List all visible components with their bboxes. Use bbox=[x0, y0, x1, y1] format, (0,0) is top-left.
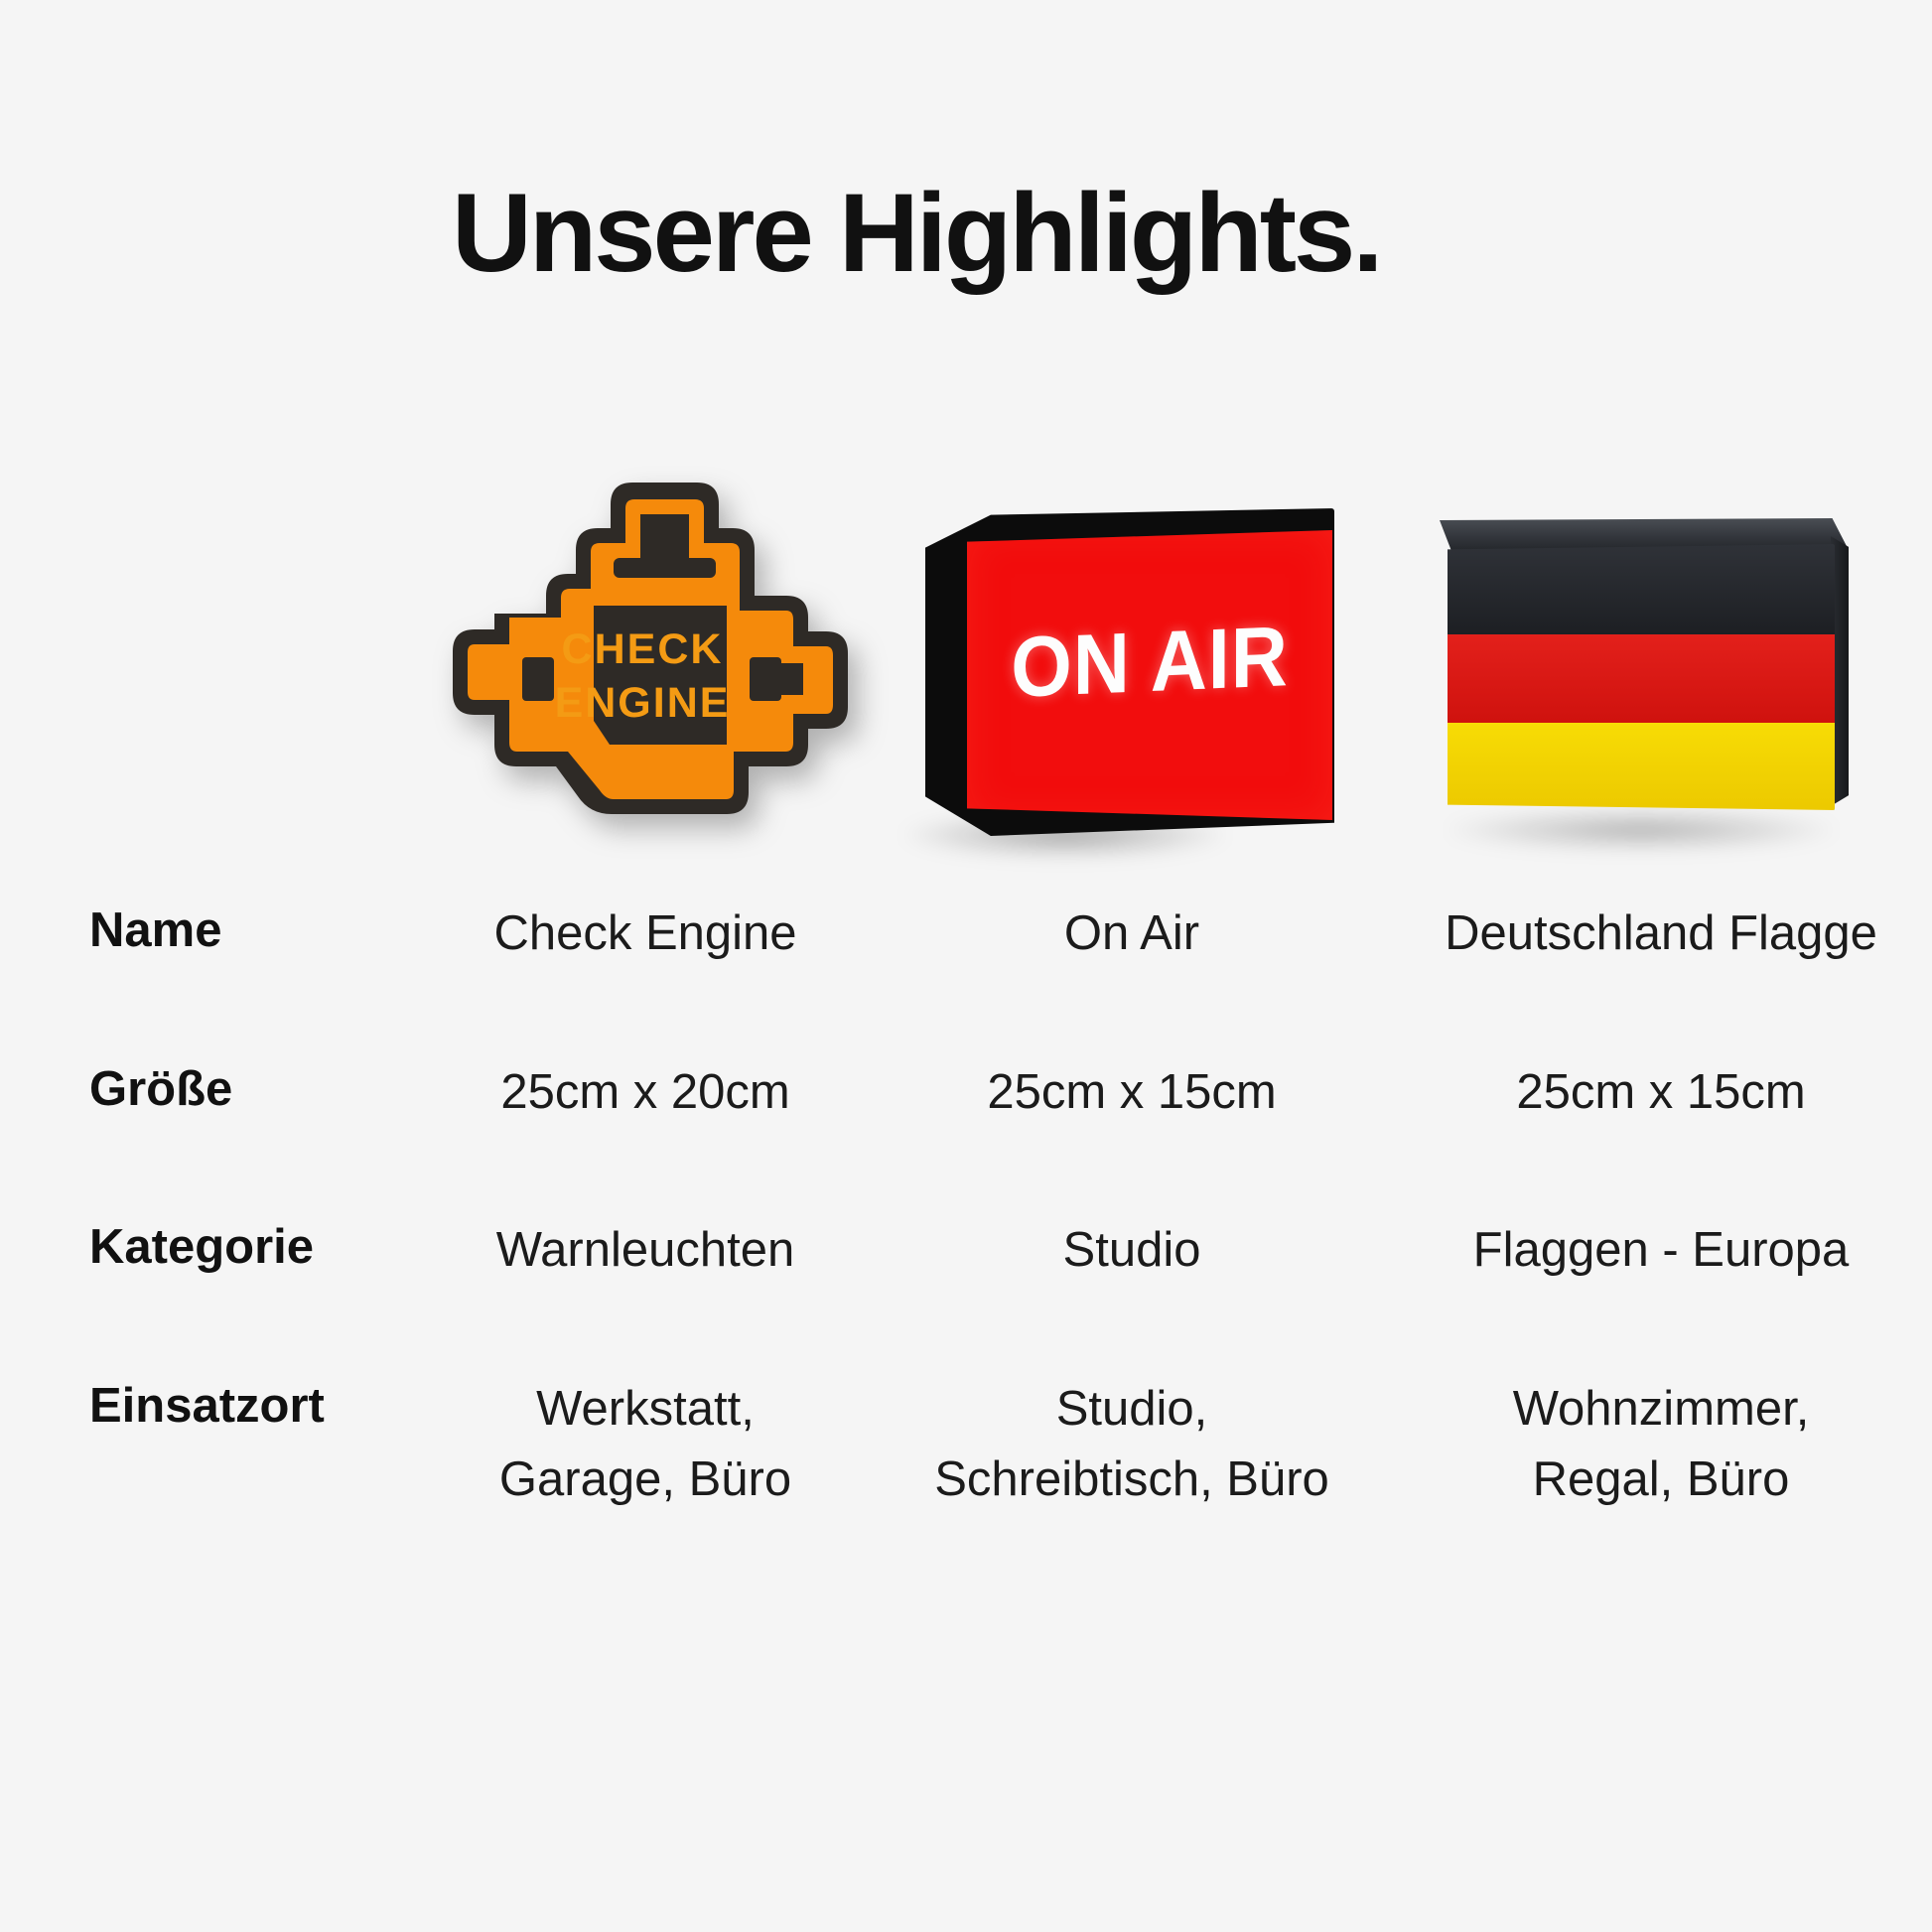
page-title: Unsere Highlights. bbox=[452, 169, 1380, 297]
product-image-deutschland-flagge[interactable] bbox=[1420, 447, 1876, 864]
on-air-box: ON AIR bbox=[925, 508, 1334, 836]
spec-table: Name Check Engine On Air Deutschland Fla… bbox=[0, 898, 1932, 1603]
cell-category-on-air: Studio bbox=[874, 1215, 1390, 1287]
cell-name-deutschland-flagge: Deutschland Flagge bbox=[1390, 898, 1932, 970]
cell-category-deutschland-flagge: Flaggen - Europa bbox=[1390, 1215, 1932, 1287]
cell-size-on-air: 25cm x 15cm bbox=[874, 1057, 1390, 1129]
flag-band-gold bbox=[1448, 723, 1835, 810]
table-row-location: Einsatzort Werkstatt, Garage, Büro Studi… bbox=[0, 1374, 1932, 1516]
cell-category-check-engine: Warnleuchten bbox=[417, 1215, 874, 1287]
table-row-category: Kategorie Warnleuchten Studio Flaggen - … bbox=[0, 1215, 1932, 1287]
check-engine-icon bbox=[399, 447, 886, 864]
cell-size-check-engine: 25cm x 20cm bbox=[417, 1057, 874, 1129]
cell-location-deutschland-flagge: Wohnzimmer, Regal, Büro bbox=[1390, 1374, 1932, 1516]
cell-name-on-air: On Air bbox=[874, 898, 1390, 970]
on-air-label: ON AIR bbox=[982, 607, 1318, 719]
flag-band-red bbox=[1448, 634, 1835, 722]
on-air-face: ON AIR bbox=[967, 530, 1332, 820]
cell-name-check-engine: Check Engine bbox=[417, 898, 874, 970]
row-label-name: Name bbox=[0, 898, 417, 964]
table-row-name: Name Check Engine On Air Deutschland Fla… bbox=[0, 898, 1932, 970]
flag-face bbox=[1448, 544, 1835, 810]
flag-box bbox=[1440, 518, 1849, 826]
row-label-location: Einsatzort bbox=[0, 1374, 417, 1440]
product-image-on-air[interactable]: ON AIR bbox=[894, 447, 1360, 864]
table-row-size: Größe 25cm x 20cm 25cm x 15cm 25cm x 15c… bbox=[0, 1057, 1932, 1129]
product-image-check-engine[interactable]: CHECK ENGINE bbox=[399, 447, 886, 864]
cell-size-deutschland-flagge: 25cm x 15cm bbox=[1390, 1057, 1932, 1129]
flag-band-black bbox=[1448, 544, 1835, 634]
product-image-row: CHECK ENGINE ON AIR bbox=[0, 427, 1932, 864]
cell-location-check-engine: Werkstatt, Garage, Büro bbox=[417, 1374, 874, 1516]
row-label-size: Größe bbox=[0, 1057, 417, 1123]
row-label-category: Kategorie bbox=[0, 1215, 417, 1281]
cell-location-on-air: Studio, Schreibtisch, Büro bbox=[874, 1374, 1390, 1516]
